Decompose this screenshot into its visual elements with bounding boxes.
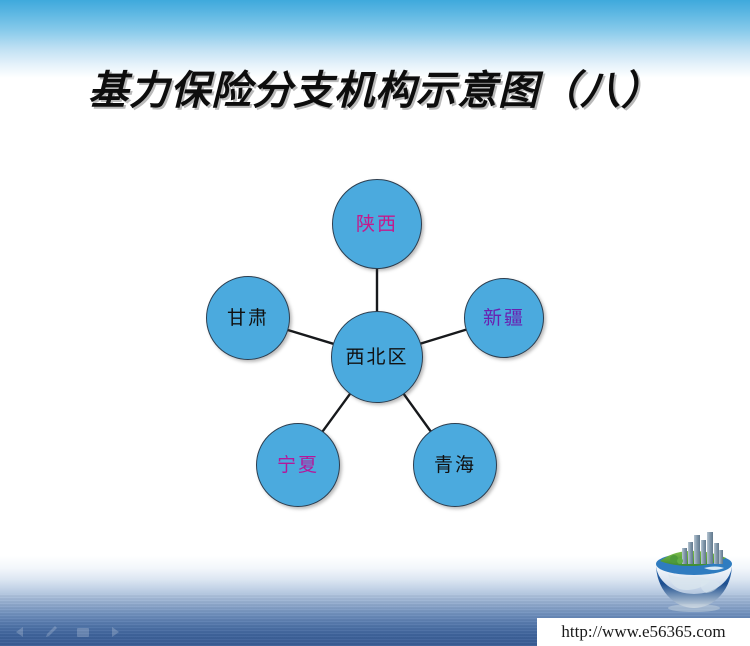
diagram-node-shaanxi[interactable]: 陕西 [332,179,422,269]
globe-city-logo [648,528,740,614]
diagram-node-xinjiang[interactable]: 新疆 [464,278,544,358]
watermark-url-text: http://www.e56365.com [561,622,725,642]
org-chart-diagram: 西北区陕西新疆甘肃宁夏青海 [0,0,750,646]
globe-city-icon [648,528,740,614]
diagram-node-label: 新疆 [483,309,525,328]
diagram-node-center[interactable]: 西北区 [331,311,423,403]
diagram-edge [418,329,469,345]
diagram-node-ningxia[interactable]: 宁夏 [256,423,340,507]
diagram-node-label: 陕西 [356,215,398,234]
watermark-url-band: http://www.e56365.com [537,618,750,646]
diagram-node-gansu[interactable]: 甘肃 [206,276,290,360]
pen-icon[interactable] [43,625,61,639]
diagram-edge [402,392,432,434]
diagram-node-label: 宁夏 [277,456,319,475]
previous-arrow-icon[interactable] [12,625,30,639]
diagram-edge [321,392,352,434]
slideshow-nav-bar[interactable] [12,622,132,642]
presentation-slide: 基力保险分支机构示意图（八） 西北区陕西新疆甘肃宁夏青海 [0,0,750,646]
slide-icon[interactable] [74,625,92,639]
diagram-node-label: 西北区 [345,348,408,367]
diagram-node-qinghai[interactable]: 青海 [413,423,497,507]
next-arrow-icon[interactable] [105,625,123,639]
diagram-edge [285,329,336,344]
diagram-node-label: 甘肃 [227,309,269,328]
diagram-node-label: 青海 [434,456,476,475]
